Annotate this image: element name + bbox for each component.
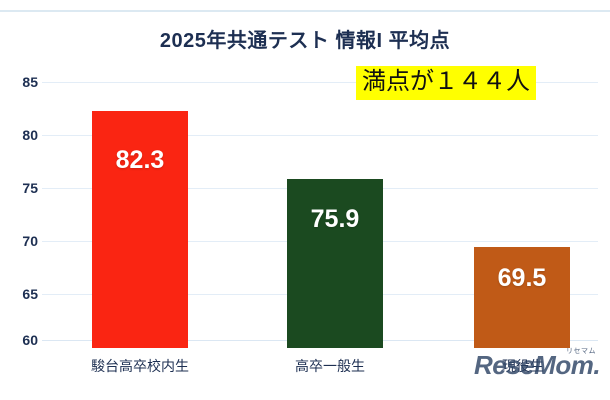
bar-series-1[interactable]: 75.9	[287, 179, 383, 348]
bar-value-label: 82.3	[92, 146, 188, 175]
y-tick-label: 75	[4, 180, 38, 196]
plot-area: 82.3 75.9 69.5	[42, 74, 598, 348]
top-divider	[0, 10, 610, 12]
y-tick-label: 60	[4, 332, 38, 348]
page-title: 2025年共通テスト 情報I 平均点	[0, 24, 610, 53]
y-tick-label: 70	[4, 233, 38, 249]
bar-value-label: 75.9	[287, 205, 383, 234]
bar-series-2[interactable]: 69.5	[474, 247, 570, 348]
y-tick-label: 85	[4, 74, 38, 90]
bar-series-0[interactable]: 82.3	[92, 111, 188, 348]
x-axis-label-1: 高卒一般生	[250, 356, 410, 376]
bar-chart: 2025年共通テスト 情報I 平均点 85 80 75 70 65 60 82.…	[0, 0, 610, 400]
x-axis-label-0: 駿台高卒校内生	[60, 356, 220, 376]
y-axis: 85 80 75 70 65 60	[0, 74, 38, 348]
y-tick-label: 65	[4, 286, 38, 302]
y-tick-label: 80	[4, 127, 38, 143]
x-axis-label-2: 現役生	[443, 356, 603, 376]
annotation-callout: 満点が１４４人	[356, 66, 536, 100]
bar-value-label: 69.5	[474, 264, 570, 293]
